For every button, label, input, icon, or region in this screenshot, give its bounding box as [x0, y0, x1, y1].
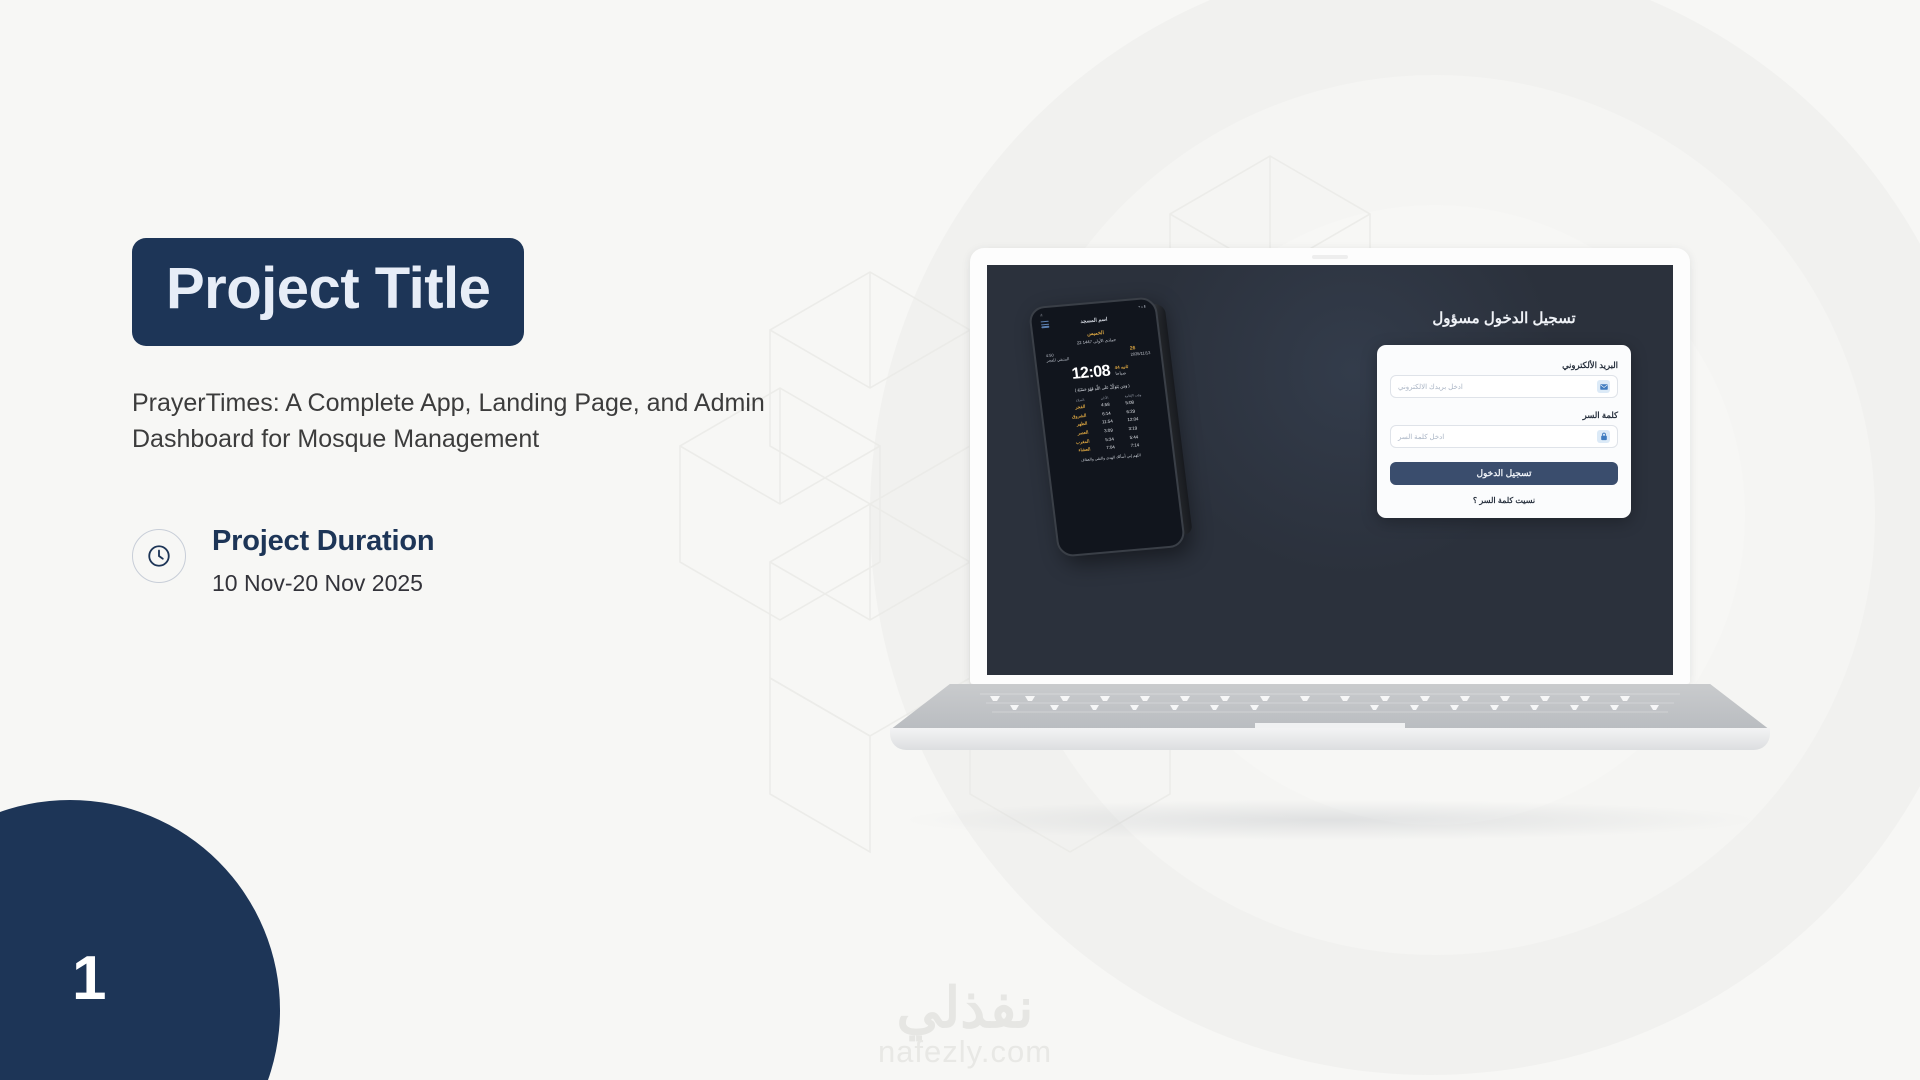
laptop-base [890, 684, 1770, 754]
prayer-adhan: 7:04 [1094, 444, 1126, 453]
prayer-adhan: 3:09 [1092, 426, 1124, 435]
phone-period-label: صباحا [1115, 369, 1129, 376]
phone-gregorian-date: 2025/11/13 [1130, 350, 1150, 357]
slide-root: Project Title PrayerTimes: A Complete Ap… [0, 0, 1920, 1080]
duration-text-group: Project Duration 10 Nov-20 Nov 2025 [212, 525, 434, 597]
keyboard-keys [950, 690, 1710, 720]
prayer-name: الظهر [1053, 421, 1088, 430]
phone-clock-meta: 44 ثانيه صباحا [1114, 364, 1129, 377]
phone-clock: 12:08 [1071, 362, 1111, 383]
phone-carrier-text: ıll [1040, 313, 1043, 317]
prayer-name: الفجر [1051, 404, 1086, 413]
laptop-mockup: ıll ▾ ▴ ▮ اسم المسجد الخميس [890, 248, 1770, 754]
prayer-adhan: 11:54 [1091, 418, 1123, 427]
laptop-lid: ıll ▾ ▴ ▮ اسم المسجد الخميس [970, 248, 1690, 684]
clock-icon [132, 529, 186, 583]
forgot-password-link[interactable]: نسيت كلمة السر ؟ [1390, 496, 1618, 505]
password-label: كلمة السر [1390, 410, 1618, 420]
email-placeholder: ادخل بريدك الالكتروني [1398, 383, 1463, 391]
prayer-name: العصر [1054, 430, 1089, 439]
phone-status-icons: ▾ ▴ ▮ [1138, 304, 1146, 309]
phone-mockup: ıll ▾ ▴ ▮ اسم المسجد الخميس [1028, 296, 1186, 557]
watermark-arabic: نفذلي [845, 979, 1085, 1038]
header-adhan: الأذان [1088, 394, 1120, 401]
project-subtitle: PrayerTimes: A Complete App, Landing Pag… [132, 386, 772, 457]
hamburger-menu-icon[interactable] [1041, 321, 1050, 330]
prayer-iqama: 5:08 [1125, 398, 1157, 407]
prayer-adhan: 6:14 [1090, 409, 1122, 418]
login-submit-button[interactable]: تسجيل الدخول [1390, 462, 1618, 485]
webcam-icon [1312, 255, 1348, 259]
nafezly-watermark: نفذلي nafezly.com [845, 979, 1085, 1070]
phone-prayer-table: الصلاة الأذان وقت الإقامة الفجر 4:58 5:0… [1041, 384, 1172, 456]
login-heading: تسجيل الدخول مسؤول [1377, 309, 1631, 327]
laptop-front-edge [890, 728, 1770, 750]
prayer-iqama: 5:44 [1129, 432, 1161, 441]
password-placeholder: ادخل كلمة السر [1398, 433, 1444, 441]
page-number: 1 [72, 948, 106, 1010]
duration-range: 10 Nov-20 Nov 2025 [212, 570, 434, 597]
admin-login-panel: تسجيل الدخول مسؤول البريد الألكتروني ادخ… [1377, 309, 1631, 518]
prayer-name: المغرب [1055, 438, 1090, 447]
phone-mosque-name: اسم المسجد [1080, 317, 1108, 325]
page-number-circle [0, 800, 280, 1080]
prayer-iqama: 12:04 [1127, 415, 1159, 424]
email-label: البريد الألكتروني [1390, 360, 1618, 370]
prayer-iqama: 7:14 [1130, 440, 1162, 449]
phone-next-prayer-label: المتبقي للفجر [1046, 356, 1069, 363]
page-title: Project Title [132, 238, 524, 346]
laptop-screen: ıll ▾ ▴ ▮ اسم المسجد الخميس [987, 265, 1673, 675]
duration-label: Project Duration [212, 525, 434, 558]
prayer-name: الشروق [1052, 413, 1087, 422]
lock-icon [1597, 430, 1610, 443]
watermark-domain: nafezly.com [845, 1034, 1085, 1070]
phone-weather-date: 26 2025/11/13 [1129, 344, 1150, 357]
header-prayer-name: الصلاة [1050, 397, 1084, 404]
left-content-column: Project Title PrayerTimes: A Complete Ap… [132, 238, 792, 597]
prayer-adhan: 5:34 [1093, 435, 1125, 444]
prayer-iqama: 6:29 [1126, 406, 1158, 415]
header-iqama: وقت الإقامة [1124, 391, 1156, 398]
project-duration-block: Project Duration 10 Nov-20 Nov 2025 [132, 525, 792, 597]
prayer-adhan: 4:58 [1089, 401, 1121, 410]
password-field[interactable]: ادخل كلمة السر [1390, 425, 1618, 448]
email-field[interactable]: ادخل بريدك الالكتروني [1390, 375, 1618, 398]
prayer-iqama: 3:19 [1128, 423, 1160, 432]
prayer-name: العشاء [1056, 447, 1091, 456]
phone-next-prayer: 4:50 المتبقي للفجر [1045, 351, 1069, 364]
laptop-shadow [910, 800, 1750, 840]
login-card: البريد الألكتروني ادخل بريدك الالكتروني … [1377, 345, 1631, 518]
envelope-icon [1597, 380, 1610, 393]
